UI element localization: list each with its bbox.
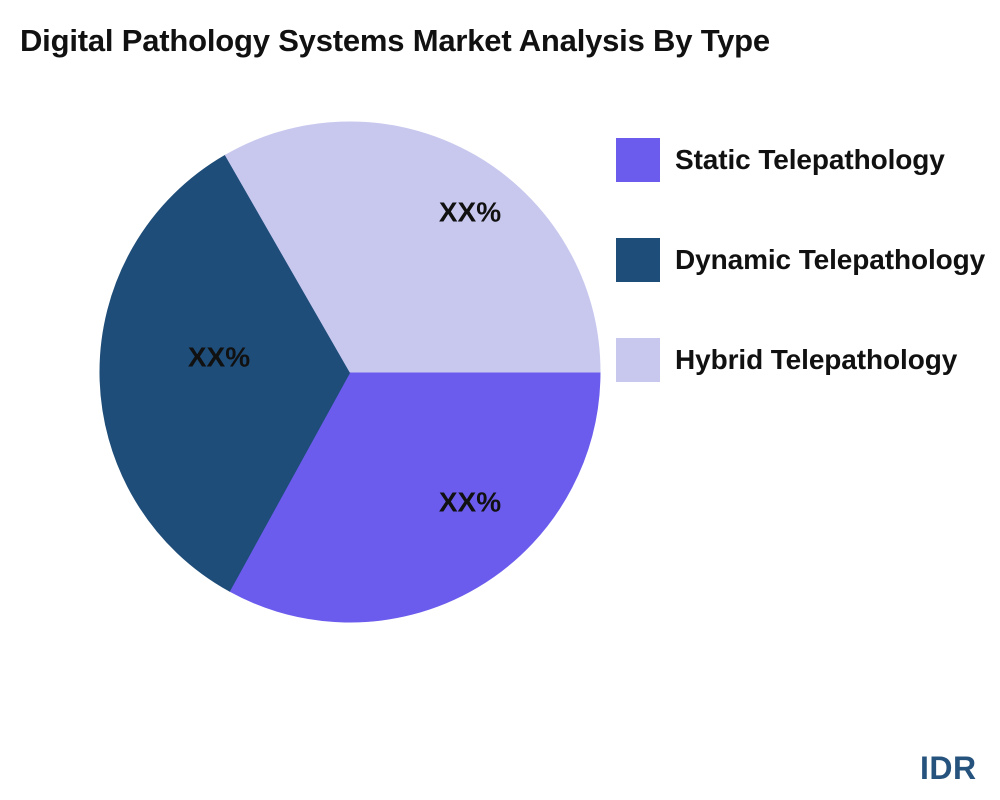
legend-item-dynamic[interactable]: Dynamic Telepathology [616,210,1000,310]
legend-label-static: Static Telepathology [675,144,945,176]
legend-swatch-static [616,138,660,182]
legend-label-hybrid: Hybrid Telepathology [675,344,957,376]
pie-slice-label: XX% [439,486,501,517]
pie-slices [100,122,600,622]
pie-slice-label: XX% [188,341,250,372]
idr-watermark: IDR [920,750,977,787]
legend-item-static[interactable]: Static Telepathology [616,110,1000,210]
legend-label-dynamic: Dynamic Telepathology [675,244,985,276]
pie-slice-label: XX% [439,196,501,227]
legend-swatch-hybrid [616,338,660,382]
chart-legend: Static Telepathology Dynamic Telepatholo… [616,110,1000,410]
legend-item-hybrid[interactable]: Hybrid Telepathology [616,310,1000,410]
legend-swatch-dynamic [616,238,660,282]
